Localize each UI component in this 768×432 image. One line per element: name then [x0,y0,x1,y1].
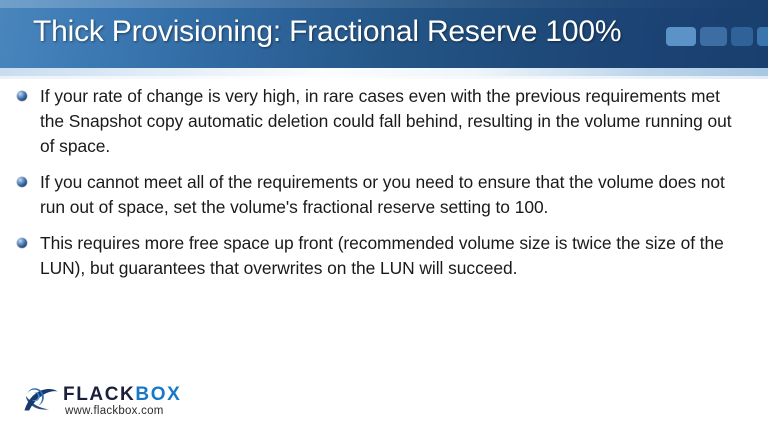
flackbox-wordmark: FLACKBOX [63,385,181,405]
bullet-sphere-icon [17,91,27,101]
logo-word-flack: FLACK [63,384,135,405]
header-underline-stripe-secondary [0,76,768,79]
slide-title: Thick Provisioning: Fractional Reserve 1… [33,12,621,52]
bullet-text: If you cannot meet all of the requiremen… [40,170,746,220]
header-sheen-overlay [0,0,768,8]
flackbox-logo: FLACKBOX www.flackbox.com [22,385,222,419]
bullet-text: This requires more free space up front (… [40,231,746,281]
logo-word-box: BOX [135,384,181,405]
header-decorative-square-2 [700,27,727,46]
slide-body: If your rate of change is very high, in … [0,84,768,292]
header-decorative-square-3 [731,27,753,46]
slide-header-band: Thick Provisioning: Fractional Reserve 1… [0,0,768,68]
logo-website-url: www.flackbox.com [65,405,164,418]
bullet-text: If your rate of change is very high, in … [40,84,746,159]
header-underline-stripe [0,68,768,76]
bullet-item: If you cannot meet all of the requiremen… [0,170,768,220]
bullet-item: If your rate of change is very high, in … [0,84,768,159]
header-decorative-square-4 [757,27,768,46]
bullet-sphere-icon [17,177,27,187]
header-decorative-square-1 [666,27,696,46]
flackbox-swoosh-icon [22,386,60,414]
bullet-sphere-icon [17,238,27,248]
bullet-item: This requires more free space up front (… [0,231,768,281]
slide-canvas: Thick Provisioning: Fractional Reserve 1… [0,0,768,432]
